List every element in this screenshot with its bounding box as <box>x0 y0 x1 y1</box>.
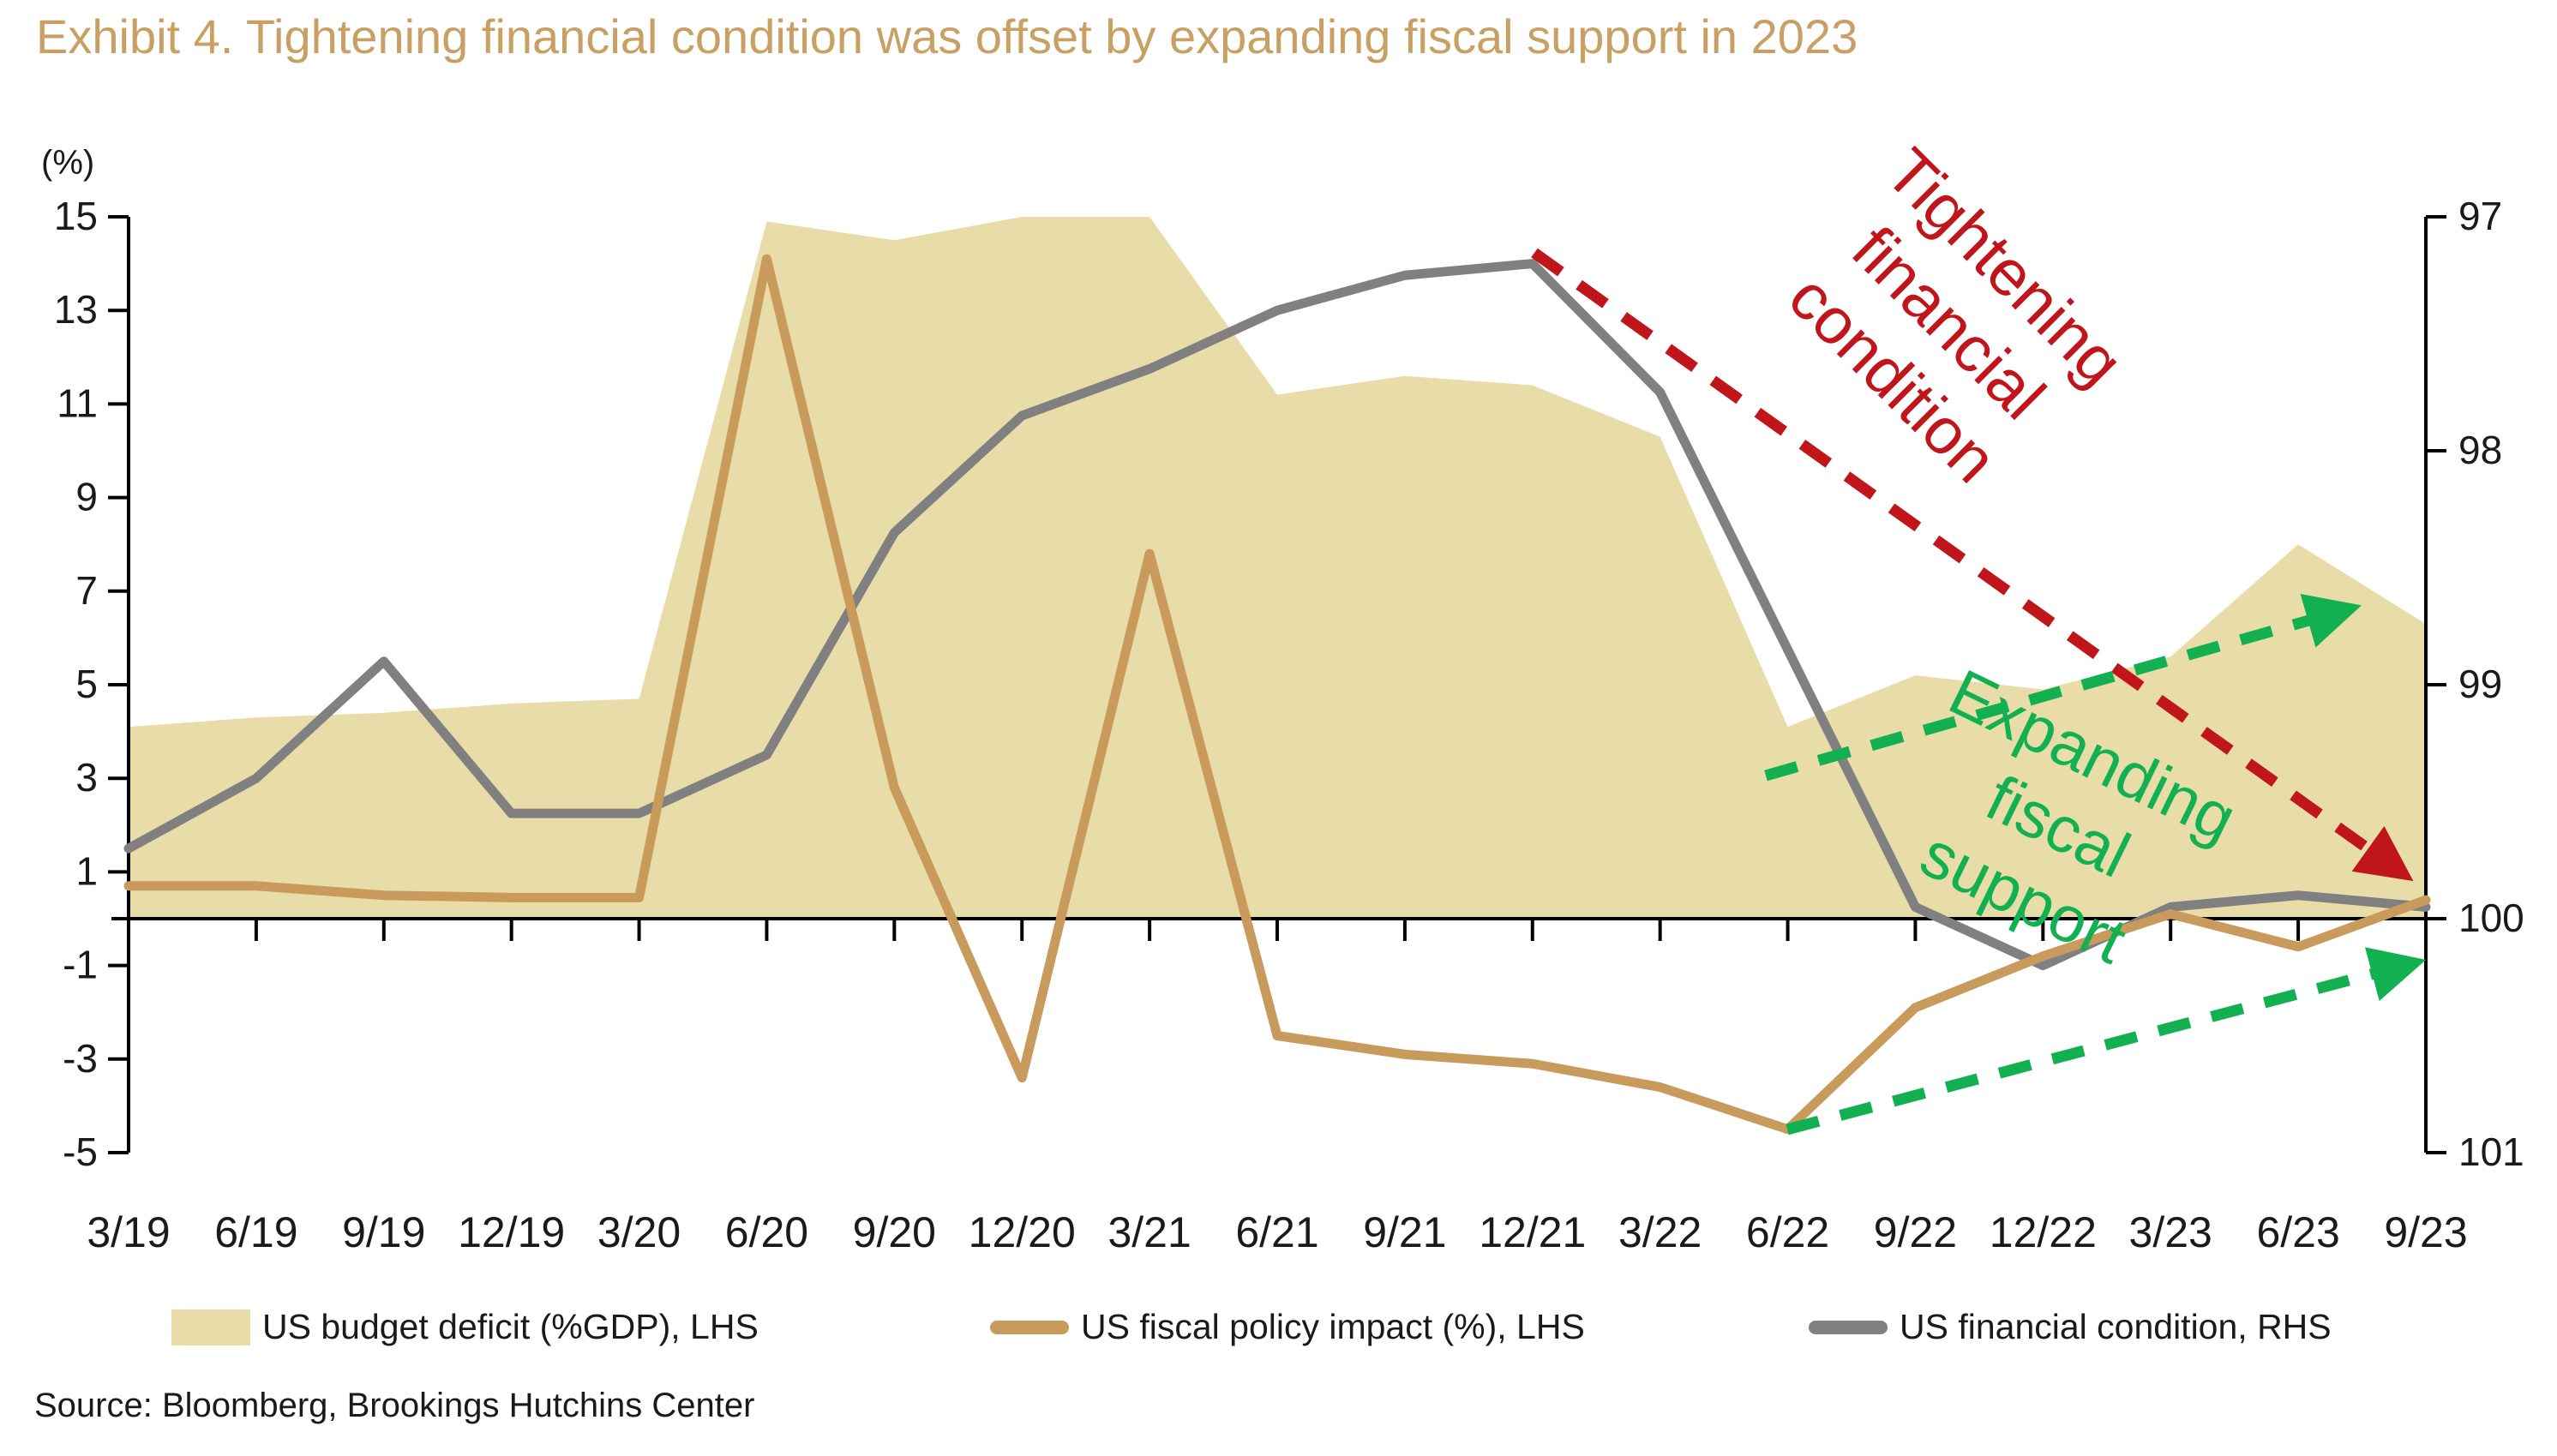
x-axis-tick-label: 12/19 <box>458 1208 565 1256</box>
legend-item-budget-deficit[interactable]: US budget deficit (%GDP), LHS <box>171 1307 759 1347</box>
left-axis-tick-label: 1 <box>75 848 98 893</box>
legend-swatch-area-icon <box>171 1309 250 1345</box>
x-axis-tick-label: 9/19 <box>342 1208 425 1256</box>
chart-legend: US budget deficit (%GDP), LHS US fiscal … <box>0 1307 2557 1367</box>
chart-canvas: 15131197531-1-3-59798991001013/196/199/1… <box>0 0 2557 1456</box>
left-axis-tick-label: 15 <box>54 194 98 238</box>
left-axis-tick-label: -1 <box>63 943 98 987</box>
x-axis-tick-label: 9/23 <box>2384 1208 2467 1256</box>
x-axis-tick-label: 12/20 <box>969 1208 1076 1256</box>
x-axis-tick-label: 9/22 <box>1874 1208 1957 1256</box>
x-axis-tick-label: 3/22 <box>1618 1208 1702 1256</box>
x-axis-tick-label: 6/21 <box>1235 1208 1318 1256</box>
legend-item-financial-condition[interactable]: US financial condition, RHS <box>1809 1307 2332 1347</box>
right-axis-tick-label: 97 <box>2458 194 2502 238</box>
left-axis-tick-label: 5 <box>75 662 98 706</box>
x-axis-tick-label: 6/20 <box>725 1208 808 1256</box>
x-axis-tick-label: 9/21 <box>1363 1208 1446 1256</box>
source-note: Source: Bloomberg, Brookings Hutchins Ce… <box>34 1387 754 1425</box>
legend-label-financial-condition: US financial condition, RHS <box>1900 1307 2332 1347</box>
x-axis-tick-label: 3/20 <box>597 1208 681 1256</box>
left-axis-tick-label: 9 <box>75 475 98 519</box>
right-axis-tick-label: 100 <box>2458 896 2524 940</box>
left-axis-tick-label: 13 <box>54 287 98 332</box>
x-axis-tick-label: 12/21 <box>1479 1208 1586 1256</box>
legend-label-budget-deficit: US budget deficit (%GDP), LHS <box>262 1307 759 1347</box>
x-axis-tick-label: 6/23 <box>2256 1208 2339 1256</box>
right-axis-tick-label: 101 <box>2458 1129 2524 1174</box>
left-axis-tick-label: 3 <box>75 755 98 800</box>
x-axis-tick-label: 6/22 <box>1746 1208 1829 1256</box>
x-axis-tick-label: 9/20 <box>853 1208 936 1256</box>
x-axis-tick-label: 6/19 <box>214 1208 297 1256</box>
x-axis-tick-label: 3/23 <box>2129 1208 2212 1256</box>
right-axis-tick-label: 98 <box>2458 428 2502 472</box>
legend-swatch-line-fiscal-icon <box>990 1321 1069 1334</box>
legend-item-fiscal-policy[interactable]: US fiscal policy impact (%), LHS <box>990 1307 1585 1347</box>
right-axis-tick-label: 99 <box>2458 662 2502 706</box>
legend-label-fiscal-policy: US fiscal policy impact (%), LHS <box>1081 1307 1585 1347</box>
x-axis-tick-label: 3/21 <box>1107 1208 1191 1256</box>
left-axis-tick-label: -3 <box>63 1036 98 1081</box>
left-axis-tick-label: 7 <box>75 568 98 613</box>
left-axis-tick-label: 11 <box>57 380 98 425</box>
x-axis-tick-label: 12/22 <box>1990 1208 2097 1256</box>
x-axis-tick-label: 3/19 <box>87 1208 170 1256</box>
legend-swatch-line-financial-icon <box>1809 1321 1888 1334</box>
left-axis-tick-label: -5 <box>63 1129 98 1174</box>
chart-page: Exhibit 4. Tightening financial conditio… <box>0 0 2557 1456</box>
